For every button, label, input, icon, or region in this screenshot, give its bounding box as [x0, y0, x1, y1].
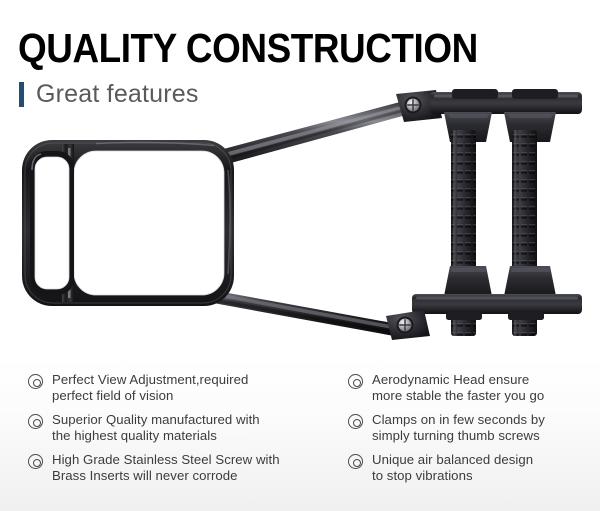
upper-clamp-assembly [396, 89, 582, 142]
feature-text: Perfect View Adjustment,required perfect… [52, 372, 248, 403]
feature-line: the highest quality materials [52, 428, 217, 443]
lower-pivot-boss [386, 310, 430, 340]
feature-text: Clamps on in few seconds by simply turni… [372, 412, 545, 443]
double-circle-icon [348, 414, 363, 429]
feature-line: simply turning thumb screws [372, 428, 540, 443]
double-circle-icon [348, 454, 363, 469]
feature-line: High Grade Stainless Steel Screw with [52, 452, 280, 467]
feature-text: Superior Quality manufactured with the h… [52, 412, 260, 443]
feature-line: perfect field of vision [52, 388, 173, 403]
feature-item: Aerodynamic Head ensure more stable the … [348, 372, 592, 403]
feature-line: Perfect View Adjustment,required [52, 372, 248, 387]
double-circle-icon [28, 454, 43, 469]
product-feature-banner: QUALITY CONSTRUCTION Great features [0, 0, 600, 511]
feature-item: Unique air balanced design to stop vibra… [348, 452, 592, 483]
blind-spot-panel [30, 151, 74, 295]
mirror-head [22, 140, 234, 306]
feature-item: Perfect View Adjustment,required perfect… [28, 372, 334, 403]
feature-line: Unique air balanced design [372, 452, 533, 467]
feature-text: Aerodynamic Head ensure more stable the … [372, 372, 544, 403]
feature-item: Superior Quality manufactured with the h… [28, 412, 334, 443]
feature-lists: Perfect View Adjustment,required perfect… [0, 372, 600, 492]
feature-line: Clamps on in few seconds by [372, 412, 545, 427]
double-circle-icon [28, 374, 43, 389]
feature-item: Clamps on in few seconds by simply turni… [348, 412, 592, 443]
feature-column-right: Aerodynamic Head ensure more stable the … [348, 372, 592, 493]
feature-line: Aerodynamic Head ensure [372, 372, 529, 387]
feature-line: to stop vibrations [372, 468, 473, 483]
page-title: QUALITY CONSTRUCTION [18, 26, 478, 70]
double-circle-icon [28, 414, 43, 429]
double-circle-icon [348, 374, 363, 389]
product-image [0, 78, 600, 368]
feature-line: Brass Inserts will never corrode [52, 468, 238, 483]
feature-line: more stable the faster you go [372, 388, 544, 403]
lower-clamp-assembly [386, 266, 582, 340]
feature-line: Superior Quality manufactured with [52, 412, 260, 427]
feature-column-left: Perfect View Adjustment,required perfect… [28, 372, 334, 493]
feature-text: High Grade Stainless Steel Screw with Br… [52, 452, 280, 483]
feature-text: Unique air balanced design to stop vibra… [372, 452, 533, 483]
feature-item: High Grade Stainless Steel Screw with Br… [28, 452, 334, 483]
